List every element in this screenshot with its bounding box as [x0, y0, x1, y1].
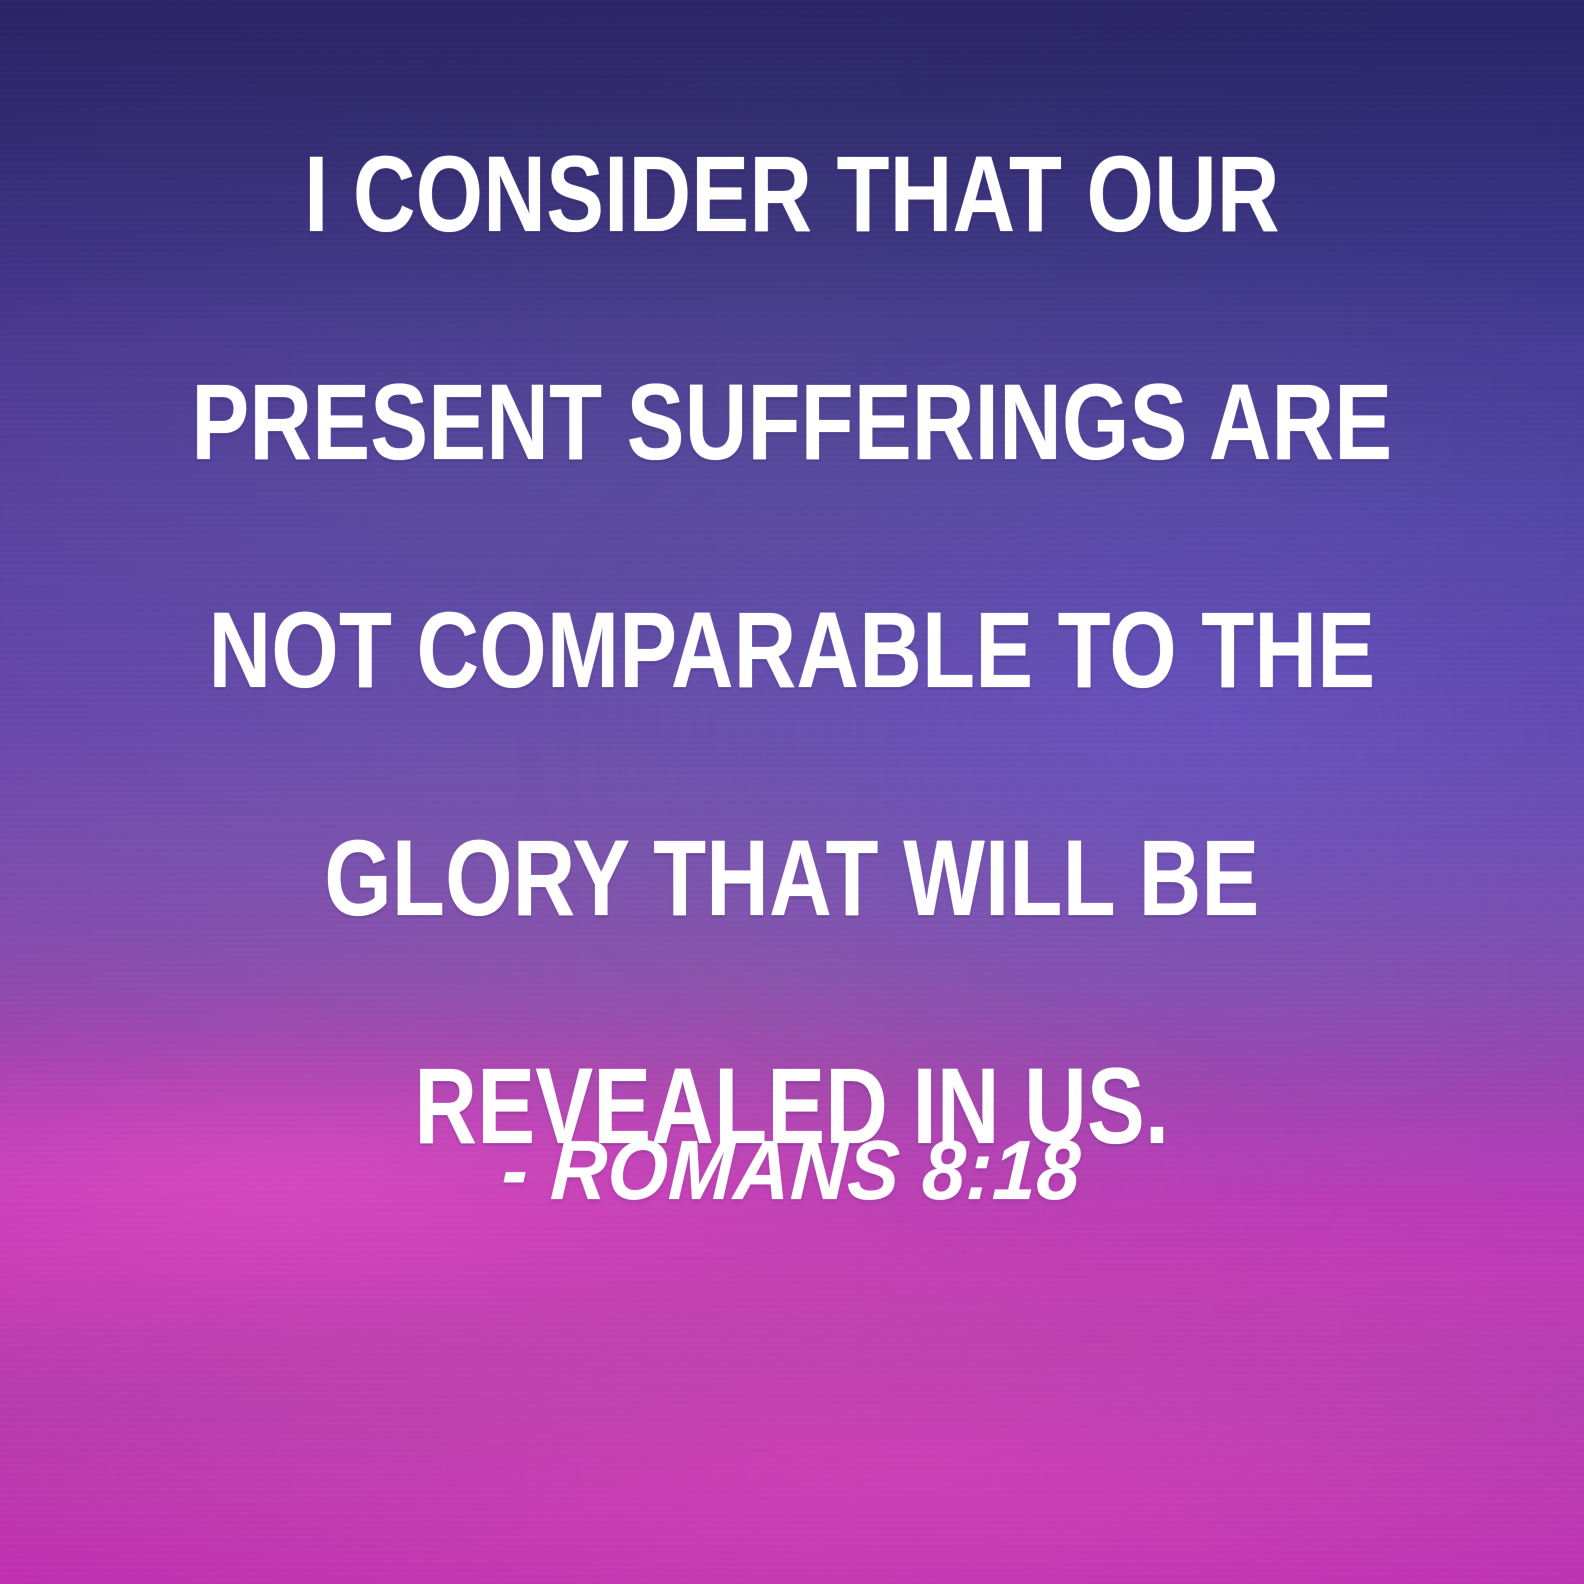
quote-line-2: PRESENT SUFFERINGS ARE [158, 368, 1425, 596]
attribution-block: - ROMANS 8:18 [0, 1128, 1584, 1212]
quote-line-1: I CONSIDER THAT OUR [158, 140, 1425, 368]
scripture-reference: - ROMANS 8:18 [501, 1128, 1084, 1212]
quote-line-3: NOT COMPARABLE TO THE [158, 596, 1425, 824]
quote-text-block: I CONSIDER THAT OUR PRESENT SUFFERINGS A… [0, 140, 1584, 1160]
quote-line-4: GLORY THAT WILL BE [158, 824, 1425, 1052]
background-magenta-band-lower [0, 1267, 1584, 1584]
quote-image: I CONSIDER THAT OUR PRESENT SUFFERINGS A… [0, 0, 1584, 1584]
